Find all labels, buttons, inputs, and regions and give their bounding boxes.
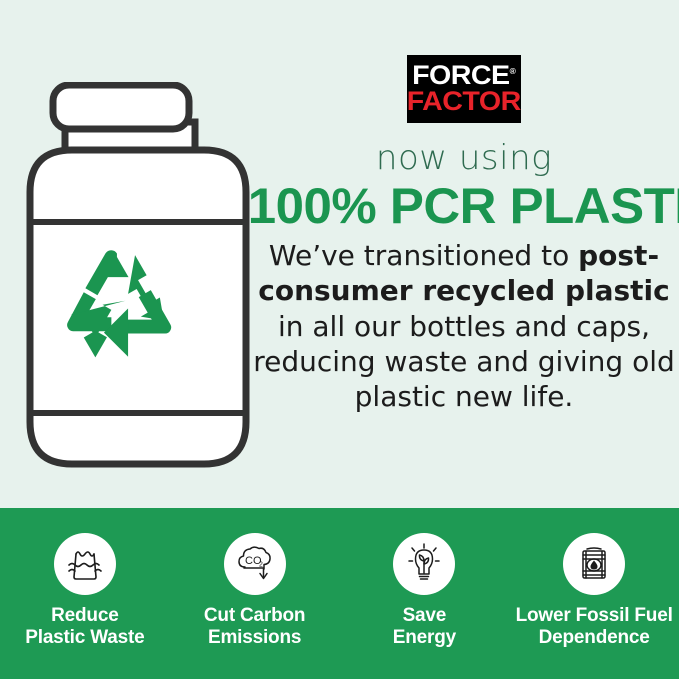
benefit-label: Lower Fossil Fuel Dependence bbox=[516, 605, 673, 648]
benefits-band: Reduce Plastic Waste CO 2 bbox=[0, 508, 679, 679]
benefit-cut-carbon-emissions: CO 2 Cut Carbon Emissions bbox=[170, 508, 340, 648]
pcr-plastic-infographic: FORCE® FACTOR now using 100% PCR PLASTIC… bbox=[0, 0, 679, 679]
logo-wrap: FORCE® FACTOR bbox=[252, 55, 676, 123]
body-copy-part-1: We’ve transitioned to bbox=[269, 239, 578, 272]
force-factor-logo: FORCE® FACTOR bbox=[407, 55, 521, 123]
benefit-label: Save Energy bbox=[393, 605, 456, 648]
logo-force-text: FORCE bbox=[412, 60, 510, 90]
logo-word-factor: FACTOR bbox=[407, 88, 521, 115]
co2-cloud-icon: CO 2 bbox=[233, 542, 277, 586]
top-section: FORCE® FACTOR now using 100% PCR PLASTIC… bbox=[0, 0, 679, 508]
content-column: FORCE® FACTOR now using 100% PCR PLASTIC… bbox=[252, 55, 676, 414]
oil-barrel-icon bbox=[572, 542, 616, 586]
eyebrow-text: now using bbox=[252, 141, 676, 175]
benefit-save-energy: Save Energy bbox=[340, 508, 510, 648]
benefit-icon-circle bbox=[393, 533, 455, 595]
body-copy-part-3: in all our bottles and caps, reducing wa… bbox=[253, 310, 675, 414]
supplement-bottle-illustration bbox=[22, 82, 254, 470]
benefits-row: Reduce Plastic Waste CO 2 bbox=[0, 508, 679, 679]
page-title: 100% PCR PLASTIC bbox=[248, 181, 679, 232]
lightbulb-plant-icon bbox=[402, 542, 446, 586]
benefit-icon-circle: CO 2 bbox=[224, 533, 286, 595]
benefit-icon-circle bbox=[54, 533, 116, 595]
benefit-icon-circle bbox=[563, 533, 625, 595]
benefit-label: Reduce Plastic Waste bbox=[25, 605, 144, 648]
logo-word-force: FORCE® bbox=[412, 63, 515, 89]
body-copy: We’ve transitioned to post-consumer recy… bbox=[252, 238, 676, 414]
plastic-bag-icon bbox=[63, 542, 107, 586]
registered-trademark-icon: ® bbox=[510, 67, 516, 76]
benefit-label: Cut Carbon Emissions bbox=[204, 605, 305, 648]
benefit-reduce-plastic-waste: Reduce Plastic Waste bbox=[0, 508, 170, 648]
benefit-lower-fossil-fuel: Lower Fossil Fuel Dependence bbox=[509, 508, 679, 648]
